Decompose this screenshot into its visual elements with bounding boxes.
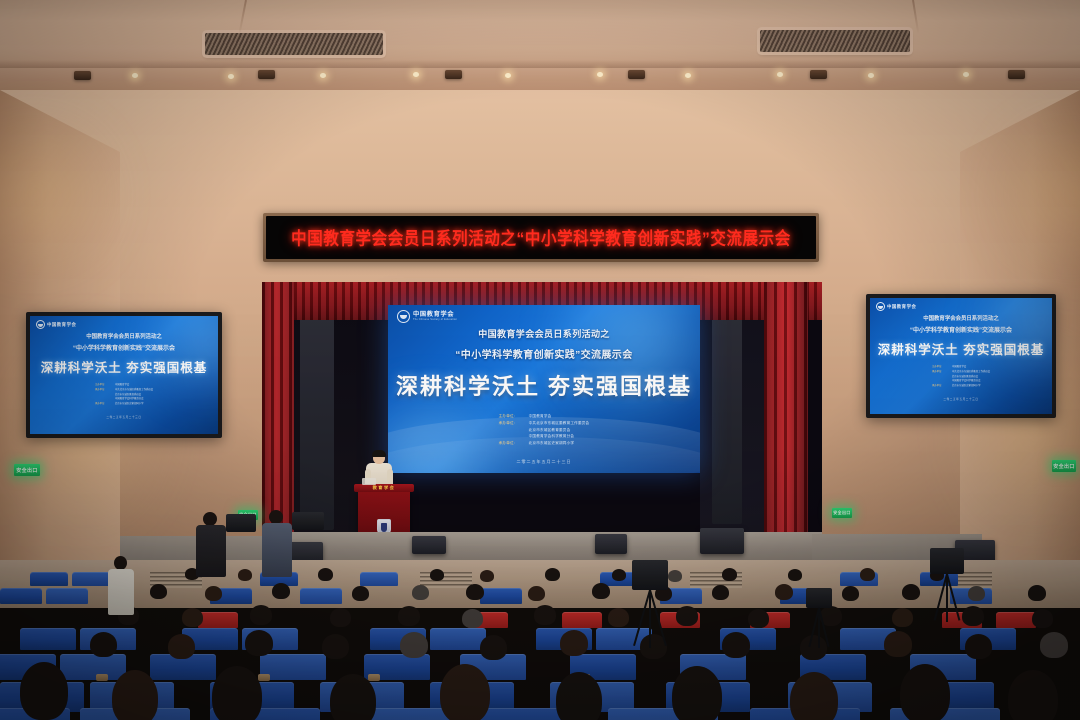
seat-armrest xyxy=(96,674,108,681)
left-screen-logo: 中国教育学会 xyxy=(36,320,76,329)
right-screen-date-line: 二零二五年五月二十三日 xyxy=(870,397,1052,401)
audience-head xyxy=(592,583,610,599)
audience-head xyxy=(272,583,290,599)
stage-curtain-right xyxy=(764,282,808,550)
audience-head xyxy=(238,569,252,581)
audience-head xyxy=(182,608,203,627)
screen-date-line: 二零二五年五月二十三日 xyxy=(388,459,700,465)
video-camera-3 xyxy=(632,560,668,590)
audience-area xyxy=(0,566,1080,720)
organizer-name: 北京市东城区史家胡同小学 xyxy=(115,402,144,407)
left-screen-subtitle-line2: “中小学科学教育创新实践”交流展示会 xyxy=(30,343,218,352)
audience-head xyxy=(245,630,273,656)
screen-subtitle-line2: “中小学科学教育创新实践”交流展示会 xyxy=(388,346,700,361)
stage-monitor-2 xyxy=(595,534,627,554)
audience-head xyxy=(412,585,429,600)
audience-head xyxy=(712,585,729,600)
ceiling-spotlight-3 xyxy=(320,73,326,78)
right-side-screen: 中国教育学会 中国教育学会会员日系列活动之 “中小学科学教育创新实践”交流展示会… xyxy=(870,298,1052,414)
line-array-speaker-left xyxy=(300,318,334,530)
audience-head xyxy=(722,632,750,658)
audience-head xyxy=(398,606,420,626)
ceiling-fixture-1 xyxy=(74,71,91,80)
main-presentation-screen: 中国教育学会 The Chinese Society of Education … xyxy=(388,305,700,473)
organizer-row: 承办单位: 北京市东城区史家胡同小学 xyxy=(95,402,153,407)
organizer-name: 中国教育学会 xyxy=(529,413,552,420)
stage-monitor-3 xyxy=(700,528,744,554)
person-head xyxy=(114,556,127,570)
led-banner: 中国教育学会会员日系列活动之“中小学科学教育创新实践”交流展示会 xyxy=(266,216,816,259)
left-screen-subtitle-line1: 中国教育学会会员日系列活动之 xyxy=(30,332,218,340)
exit-sign-label: 安全出口 xyxy=(833,510,851,516)
seat-accent xyxy=(198,612,238,628)
lectern-label: 教育学会 xyxy=(354,485,414,491)
audience-head xyxy=(322,634,349,659)
organizer-name: 中共北京市东城区委教育工作委员会 xyxy=(529,420,590,427)
audience-head-foreground xyxy=(900,664,950,720)
ceiling-fixture-5 xyxy=(810,70,827,79)
organizer-name: 中国教育学会科学教育分会 xyxy=(529,433,575,440)
right-screen-subtitle-line1: 中国教育学会会员日系列活动之 xyxy=(870,314,1052,322)
led-banner-frame: 中国教育学会会员日系列活动之“中小学科学教育创新实践”交流展示会 xyxy=(263,213,819,262)
screen-content: 中国教育学会会员日系列活动之 “中小学科学教育创新实践”交流展示会 深耕科学沃土… xyxy=(388,327,700,465)
organizer-role: 承办单位: xyxy=(932,384,949,389)
seat xyxy=(480,588,522,604)
seat xyxy=(360,572,398,586)
society-logo-cn: 中国教育学会 xyxy=(413,312,457,318)
ceiling-spotlight-6 xyxy=(597,72,603,77)
lectern-microphone xyxy=(362,478,376,485)
audience-head xyxy=(400,632,428,658)
exit-sign-far-right: 安全出口 xyxy=(1052,460,1076,472)
audience-head xyxy=(534,605,556,625)
audience-head xyxy=(775,584,793,600)
audience-head xyxy=(968,586,985,601)
screen-headline: 深耕科学沃土 夯实强国根基 xyxy=(388,369,700,401)
video-camera-4 xyxy=(930,548,964,574)
audience-head xyxy=(788,569,802,581)
led-banner-text: 中国教育学会会员日系列活动之“中小学科学教育创新实践”交流展示会 xyxy=(291,225,791,250)
audience-head xyxy=(480,635,507,660)
organizer-role: 承办单位: xyxy=(95,402,112,407)
audience-head xyxy=(352,586,369,601)
audience-head xyxy=(462,609,483,628)
organizer-row: 中国教育学会科学教育分会 xyxy=(499,433,590,440)
society-emblem-icon xyxy=(397,310,410,323)
organizer-role: 主办单位: xyxy=(499,413,525,420)
person-head xyxy=(269,510,283,524)
ceiling-vent-left xyxy=(205,33,383,55)
society-logo-en: The Chinese Society of Education xyxy=(413,319,457,322)
exit-sign-right: 安全出口 xyxy=(832,508,852,518)
ceiling-spotlight-9 xyxy=(868,73,874,78)
ceiling-vent-right xyxy=(760,30,910,52)
audience-head xyxy=(1032,609,1053,628)
audience-head xyxy=(560,630,588,656)
audience-head xyxy=(902,584,920,600)
stage-monitor-1 xyxy=(412,536,446,554)
seat-accent xyxy=(996,612,1036,628)
audience-head-foreground xyxy=(330,674,376,720)
seat xyxy=(60,654,126,680)
person-head xyxy=(203,512,217,526)
right-screen-headline: 深耕科学沃土 夯实强国根基 xyxy=(870,339,1052,358)
right-screen-logo: 中国教育学会 xyxy=(876,302,916,311)
exit-sign-label: 安全出口 xyxy=(1053,463,1075,470)
organizer-role: 承办单位: xyxy=(499,440,525,447)
audience-head xyxy=(1040,632,1068,658)
person-body xyxy=(108,569,134,615)
organizer-row: 承办单位: 北京市东城区史家胡同小学 xyxy=(499,440,590,447)
seat xyxy=(20,628,76,650)
audience-head xyxy=(1028,585,1046,601)
audience-head xyxy=(842,586,859,601)
ceiling-fixture-4 xyxy=(628,70,645,79)
ceiling-spotlight-8 xyxy=(777,72,783,77)
left-screen-date-line: 二零二五年五月二十三日 xyxy=(30,415,218,419)
audience-head xyxy=(466,584,484,600)
camera-operator-1 xyxy=(196,512,226,578)
audience-head xyxy=(800,635,827,660)
person-body xyxy=(262,523,292,577)
video-camera-2 xyxy=(292,512,324,530)
ceiling-fixture-2 xyxy=(258,70,275,79)
audience-head xyxy=(90,632,117,657)
audience-head-foreground xyxy=(112,670,158,720)
organizer-name: 北京市东城区史家胡同小学 xyxy=(529,440,575,447)
organizer-role xyxy=(499,433,525,440)
organizer-name: 北京市东城区教育委员会 xyxy=(529,427,571,434)
left-side-screen: 中国教育学会 中国教育学会会员日系列活动之 “中小学科学教育创新实践”交流展示会… xyxy=(30,316,218,434)
audience-head xyxy=(150,584,167,599)
right-screen-content: 中国教育学会会员日系列活动之 “中小学科学教育创新实践”交流展示会 深耕科学沃土… xyxy=(870,314,1052,401)
audience-head-foreground xyxy=(212,666,262,720)
audience-head-foreground xyxy=(20,662,68,720)
auditorium-photo: 中国教育学会会员日系列活动之“中小学科学教育创新实践”交流展示会 中国教育学会 … xyxy=(0,0,1080,720)
right-screen-subtitle-line2: “中小学科学教育创新实践”交流展示会 xyxy=(870,325,1052,334)
ceiling-spotlight-5 xyxy=(505,73,511,78)
audience-head xyxy=(318,568,333,581)
audience-head xyxy=(528,586,545,601)
seat-armrest xyxy=(258,674,270,681)
audience-head xyxy=(860,568,875,581)
seat xyxy=(46,588,88,604)
right-side-screen-frame: 中国教育学会 中国教育学会会员日系列活动之 “中小学科学教育创新实践”交流展示会… xyxy=(866,294,1056,418)
ceiling-fixture-3 xyxy=(445,70,462,79)
audience-head-foreground xyxy=(440,664,490,720)
organizer-row: 承办单位: 北京市东城区史家胡同小学 xyxy=(932,384,990,389)
audience-head xyxy=(965,634,992,659)
exit-sign-label: 安全出口 xyxy=(16,467,38,474)
audience-head xyxy=(480,570,494,582)
lectern-top: 教育学会 xyxy=(354,484,414,492)
screen-organizer-list: 主办单位: 中国教育学会 承办单位: 中共北京市东城区委教育工作委员会 北京市东… xyxy=(499,413,590,447)
camera-operator-2 xyxy=(262,510,292,578)
organizer-row: 北京市东城区教育委员会 xyxy=(499,427,590,434)
society-emblem-icon xyxy=(876,302,885,311)
seat xyxy=(0,588,42,604)
audience-head xyxy=(612,569,626,581)
audience-head xyxy=(250,605,272,625)
organizer-row: 主办单位: 中国教育学会 xyxy=(499,413,590,420)
audience-head xyxy=(748,609,769,628)
left-screen-logo-cn: 中国教育学会 xyxy=(47,322,76,328)
organizer-name: 北京市东城区史家胡同小学 xyxy=(952,384,981,389)
organizer-row: 承办单位: 中共北京市东城区委教育工作委员会 xyxy=(499,420,590,427)
organizer-role: 承办单位: xyxy=(499,420,525,427)
line-array-speaker-right xyxy=(712,316,742,524)
society-emblem-icon xyxy=(36,320,45,329)
exit-sign-left: 安全出口 xyxy=(14,464,40,476)
audience-head xyxy=(545,568,560,581)
audience-head xyxy=(205,586,222,601)
ceiling xyxy=(0,0,1080,74)
seat xyxy=(300,588,342,604)
screen-subtitle-line1: 中国教育学会会员日系列活动之 xyxy=(388,327,700,340)
seat-accent xyxy=(562,612,602,628)
audience-head xyxy=(676,606,698,626)
ceiling-spotlight-4 xyxy=(413,72,419,77)
seat xyxy=(72,572,110,586)
stage-curtain-left xyxy=(262,282,294,537)
right-screen-organizer-list: 主办单位: 中国教育学会 承办单位: 中共北京市东城区委教育工作委员会 北京市东… xyxy=(932,365,990,389)
audience-head xyxy=(884,631,912,657)
audience-head-foreground xyxy=(1008,670,1058,720)
screen-society-logo: 中国教育学会 The Chinese Society of Education xyxy=(397,310,457,323)
audience-head-foreground xyxy=(672,666,722,720)
audience-head xyxy=(962,606,984,626)
left-screen-content: 中国教育学会会员日系列活动之 “中小学科学教育创新实践”交流展示会 深耕科学沃土… xyxy=(30,332,218,419)
left-side-screen-frame: 中国教育学会 中国教育学会会员日系列活动之 “中小学科学教育创新实践”交流展示会… xyxy=(26,312,222,438)
audience-head xyxy=(722,568,737,581)
audience-head xyxy=(168,634,195,659)
standing-attendee-1 xyxy=(108,556,134,616)
organizer-role xyxy=(499,427,525,434)
ceiling-spotlight-10 xyxy=(963,72,969,77)
audience-head xyxy=(608,608,629,627)
ceiling-fixture-6 xyxy=(1008,70,1025,79)
left-screen-organizer-list: 主办单位: 中国教育学会 承办单位: 中共北京市东城区委教育工作委员会 北京市东… xyxy=(95,383,153,407)
audience-head xyxy=(668,570,682,582)
video-camera-5 xyxy=(806,588,832,608)
seat xyxy=(30,572,68,586)
video-camera-1 xyxy=(226,514,256,532)
audience-head xyxy=(430,569,444,581)
audience-head xyxy=(330,608,351,627)
speaker-hair xyxy=(372,450,386,457)
ceiling-spotlight-2 xyxy=(228,74,234,79)
person-body xyxy=(196,525,226,577)
ceiling-spotlight-7 xyxy=(685,73,691,78)
audience-head-foreground xyxy=(556,672,602,720)
right-screen-logo-cn: 中国教育学会 xyxy=(887,304,916,310)
left-screen-headline: 深耕科学沃土 夯实强国根基 xyxy=(30,357,218,376)
audience-head-foreground xyxy=(790,672,838,720)
seat xyxy=(430,628,486,650)
ceiling-spotlight-1 xyxy=(132,73,138,78)
seat-armrest xyxy=(368,674,380,681)
audience-head xyxy=(892,608,913,627)
